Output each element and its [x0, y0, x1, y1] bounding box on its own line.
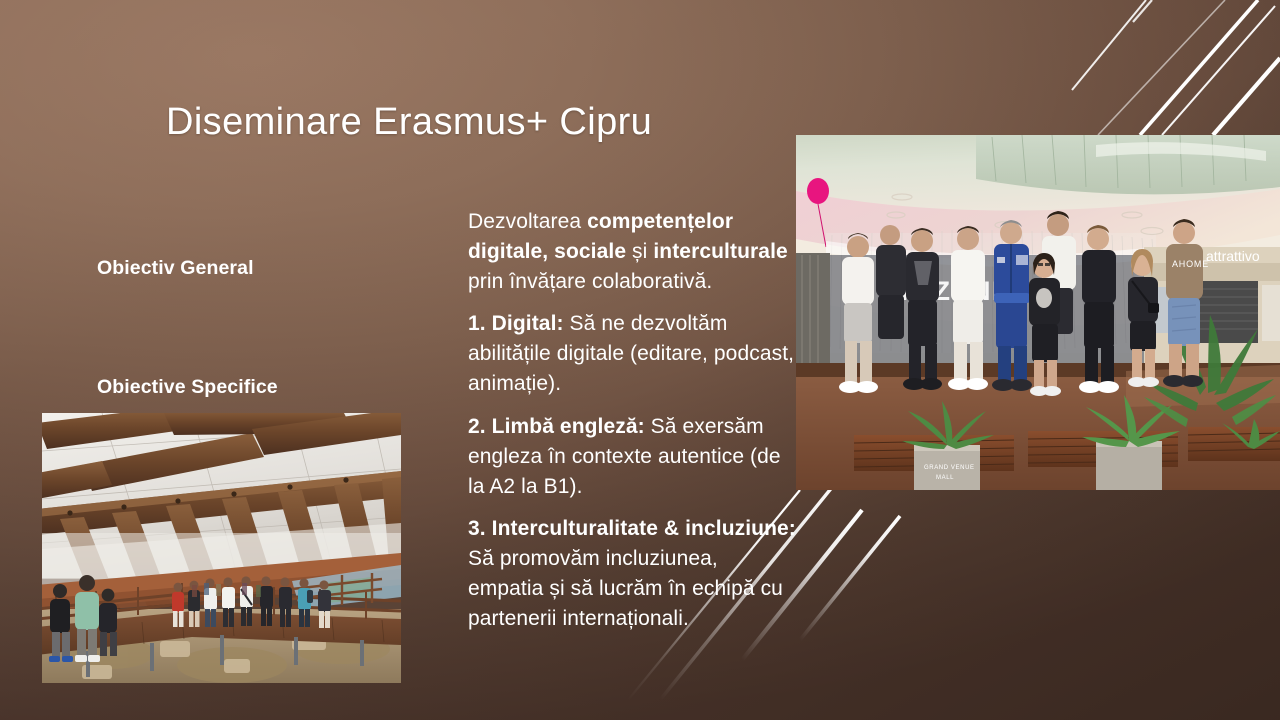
photo-archaeological-site-walkway — [42, 413, 401, 683]
label-objective-general: Obiectiv General — [97, 257, 254, 280]
text-run-bold: 3. Interculturalitate & incluziune: — [468, 517, 796, 540]
svg-text:attrattivo: attrattivo — [1206, 248, 1260, 264]
page-title: Diseminare Erasmus+ Cipru — [166, 101, 652, 144]
text-run: prin învățare colaborativă. — [468, 270, 712, 293]
body-paragraph-objective-3-interculturality: 3. Interculturalitate & incluziune: Să p… — [468, 514, 798, 633]
svg-text:GRAND VENUE: GRAND VENUE — [924, 465, 975, 471]
text-run: Dezvoltarea — [468, 210, 587, 233]
svg-text:MALL: MALL — [936, 475, 954, 481]
body-paragraph-objective-2-english: 2. Limbă engleză: Să exersăm engleza în … — [468, 412, 798, 501]
text-run: Să promovăm incluziunea, empatia și să l… — [468, 547, 783, 630]
slide-canvas: Diseminare Erasmus+ Cipru Obiectiv Gener… — [0, 0, 1280, 720]
body-text-block: Dezvoltarea competențelor digitale, soci… — [468, 207, 798, 634]
body-paragraph-objective-1-digital: 1. Digital: Să ne dezvoltăm abilitățile … — [468, 309, 798, 398]
text-run-bold: interculturale — [653, 240, 787, 263]
photo-group-shopping-mall: TEZENIS underwear attrattivo — [796, 135, 1280, 490]
svg-text:AHOME: AHOME — [1172, 259, 1209, 269]
text-run: și — [626, 240, 653, 263]
body-paragraph-general-objective: Dezvoltarea competențelor digitale, soci… — [468, 207, 798, 296]
text-run-bold: 1. Digital: — [468, 312, 564, 335]
text-run-bold: 2. Limbă engleză: — [468, 415, 645, 438]
label-objectives-specific: Obiective Specifice — [97, 376, 278, 399]
